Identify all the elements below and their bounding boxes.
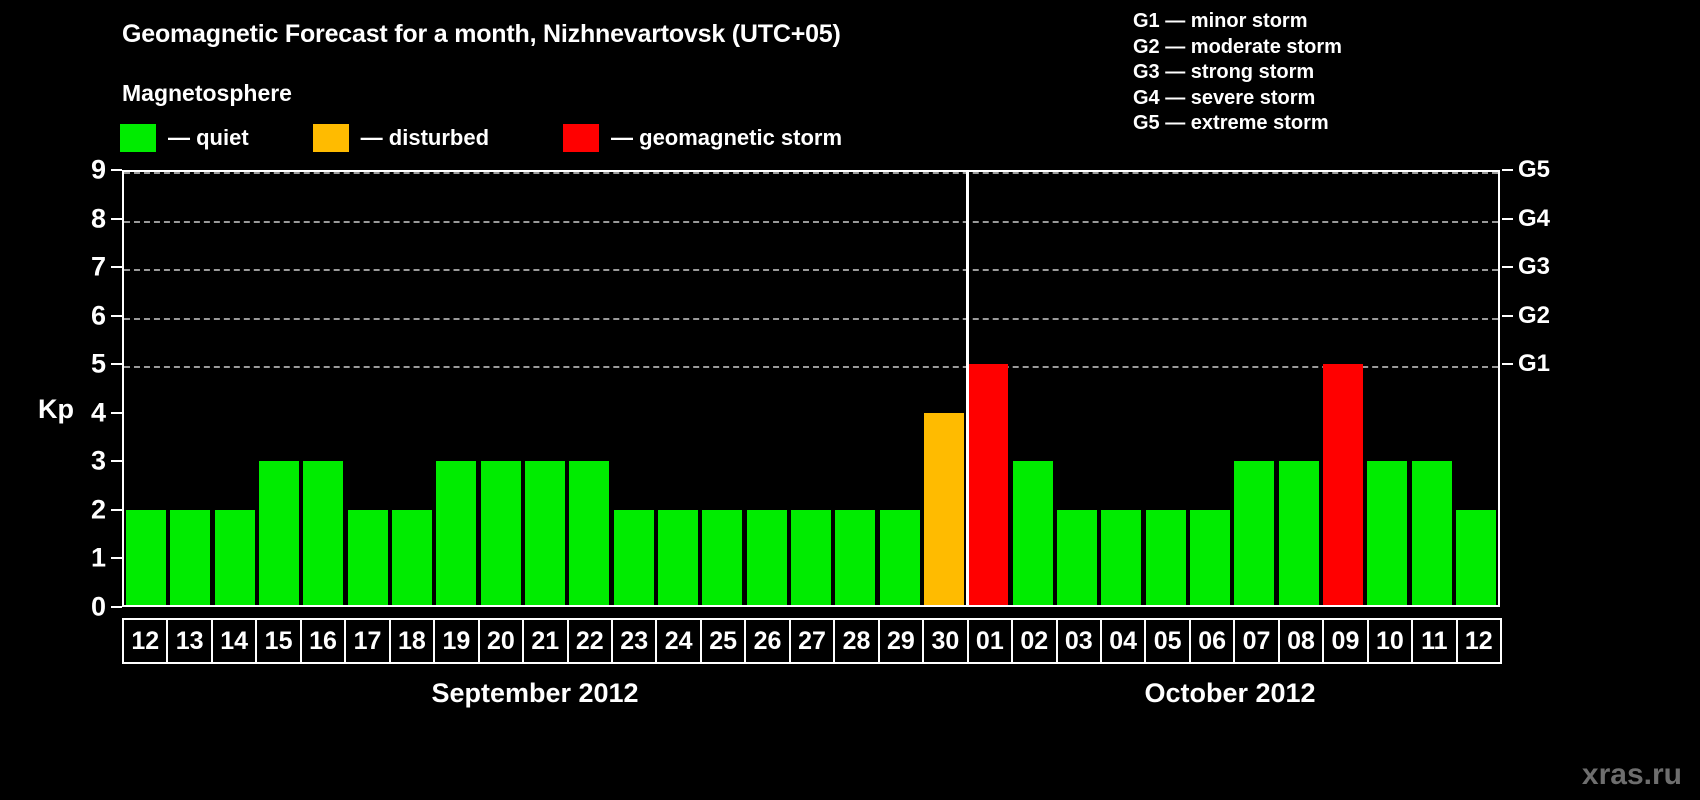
y-tick-7: [111, 266, 122, 268]
legend: — quiet— disturbed— geomagnetic storm: [120, 124, 842, 152]
bar-cell: [213, 172, 257, 607]
bar-cell: [789, 172, 833, 607]
bar-26: [747, 510, 787, 607]
bar-16: [303, 461, 343, 607]
bar-22: [569, 461, 609, 607]
date-label-14: 14: [211, 618, 257, 664]
g-scale-line-4: G4 — severe storm: [1133, 86, 1342, 112]
date-label-26: 26: [744, 618, 790, 664]
g-tick-label-G1: G1: [1518, 350, 1550, 378]
bar-24: [658, 510, 698, 607]
bar-10: [1367, 461, 1407, 607]
y-tick-label-7: 7: [76, 252, 106, 283]
bar-28: [835, 510, 875, 607]
bar-cell: [1232, 172, 1276, 607]
bar-cell: [1188, 172, 1232, 607]
bar-cell: [1321, 172, 1365, 607]
bar-cell: [745, 172, 789, 607]
bar-cell: [523, 172, 567, 607]
bar-15: [259, 461, 299, 607]
bar-08: [1279, 461, 1319, 607]
quiet-swatch: [120, 124, 156, 152]
bar-03: [1057, 510, 1097, 607]
y-tick-1: [111, 557, 122, 559]
bar-19: [436, 461, 476, 607]
month-separator: [966, 172, 969, 607]
date-label-03: 03: [1056, 618, 1102, 664]
g-tick-G5: [1502, 169, 1513, 171]
bar-01: [968, 364, 1008, 607]
month-label-october: October 2012: [1030, 678, 1430, 709]
storm-swatch: [563, 124, 599, 152]
g-scale-legend: G1 — minor stormG2 — moderate stormG3 — …: [1133, 9, 1342, 137]
bar-23: [614, 510, 654, 607]
bar-cell: [612, 172, 656, 607]
bar-cell: [168, 172, 212, 607]
date-label-27: 27: [789, 618, 835, 664]
date-label-08: 08: [1278, 618, 1324, 664]
date-label-13: 13: [166, 618, 212, 664]
y-axis-title: Kp: [38, 394, 74, 425]
date-label-04: 04: [1100, 618, 1146, 664]
bar-05: [1146, 510, 1186, 607]
bar-27: [791, 510, 831, 607]
y-tick-5: [111, 363, 122, 365]
bar-20: [481, 461, 521, 607]
date-label-05: 05: [1144, 618, 1190, 664]
date-label-20: 20: [478, 618, 524, 664]
date-label-16: 16: [300, 618, 346, 664]
y-tick-8: [111, 218, 122, 220]
disturbed-swatch: [313, 124, 349, 152]
bar-cell: [1011, 172, 1055, 607]
bar-02: [1013, 461, 1053, 607]
y-tick-label-4: 4: [76, 397, 106, 428]
bar-17: [348, 510, 388, 607]
bar-25: [702, 510, 742, 607]
bar-18: [392, 510, 432, 607]
bar-cell: [257, 172, 301, 607]
legend-label-1: — disturbed: [361, 125, 489, 151]
y-tick-3: [111, 460, 122, 462]
y-tick-label-1: 1: [76, 543, 106, 574]
y-tick-6: [111, 315, 122, 317]
bar-cell: [922, 172, 966, 607]
date-label-10: 10: [1367, 618, 1413, 664]
chart-plot-area: [122, 170, 1500, 607]
bar-30: [924, 413, 964, 607]
g-tick-label-G4: G4: [1518, 205, 1550, 233]
date-label-21: 21: [522, 618, 568, 664]
month-label-september: September 2012: [320, 678, 750, 709]
bar-11: [1412, 461, 1452, 607]
bar-series: [124, 172, 1498, 607]
date-axis: 1213141516171819202122232425262728293001…: [122, 618, 1500, 664]
g-scale-line-1: G1 — minor storm: [1133, 9, 1342, 35]
bar-cell: [656, 172, 700, 607]
date-label-24: 24: [655, 618, 701, 664]
g-tick-G4: [1502, 218, 1513, 220]
x-axis-line: [124, 605, 1498, 607]
date-label-30: 30: [922, 618, 968, 664]
bar-cell: [346, 172, 390, 607]
y-tick-label-3: 3: [76, 446, 106, 477]
bar-cell: [966, 172, 1010, 607]
date-label-15: 15: [255, 618, 301, 664]
page-title: Geomagnetic Forecast for a month, Nizhne…: [122, 20, 841, 49]
bar-04: [1101, 510, 1141, 607]
y-tick-label-6: 6: [76, 300, 106, 331]
bar-cell: [124, 172, 168, 607]
bar-cell: [479, 172, 523, 607]
bar-cell: [700, 172, 744, 607]
g-scale-line-2: G2 — moderate storm: [1133, 35, 1342, 61]
bar-cell: [1099, 172, 1143, 607]
bar-cell: [434, 172, 478, 607]
bar-cell: [1365, 172, 1409, 607]
bar-29: [880, 510, 920, 607]
legend-label-2: — geomagnetic storm: [611, 125, 842, 151]
date-label-02: 02: [1011, 618, 1057, 664]
bar-13: [170, 510, 210, 607]
legend-label-0: — quiet: [168, 125, 249, 151]
g-tick-label-G3: G3: [1518, 253, 1550, 281]
bar-12: [126, 510, 166, 607]
bar-cell: [1144, 172, 1188, 607]
g-scale-line-5: G5 — extreme storm: [1133, 111, 1342, 137]
y-tick-4: [111, 412, 122, 414]
bar-cell: [878, 172, 922, 607]
legend-item-1: — disturbed: [313, 124, 489, 152]
bar-cell: [567, 172, 611, 607]
bar-09: [1323, 364, 1363, 607]
date-label-12: 12: [122, 618, 168, 664]
g-tick-label-G5: G5: [1518, 156, 1550, 184]
y-tick-0: [111, 606, 122, 608]
date-label-29: 29: [878, 618, 924, 664]
y-tick-label-5: 5: [76, 349, 106, 380]
date-label-01: 01: [967, 618, 1013, 664]
bar-12: [1456, 510, 1496, 607]
date-label-07: 07: [1233, 618, 1279, 664]
bar-cell: [1277, 172, 1321, 607]
date-label-06: 06: [1189, 618, 1235, 664]
date-label-09: 09: [1322, 618, 1368, 664]
g-tick-G2: [1502, 315, 1513, 317]
bar-cell: [833, 172, 877, 607]
bar-cell: [1454, 172, 1498, 607]
date-label-18: 18: [389, 618, 435, 664]
bar-06: [1190, 510, 1230, 607]
date-label-12: 12: [1456, 618, 1502, 664]
y-tick-2: [111, 509, 122, 511]
date-label-25: 25: [700, 618, 746, 664]
g-tick-label-G2: G2: [1518, 302, 1550, 330]
magnetosphere-label: Magnetosphere: [122, 80, 292, 107]
g-scale-line-3: G3 — strong storm: [1133, 60, 1342, 86]
bar-cell: [301, 172, 345, 607]
legend-item-0: — quiet: [120, 124, 249, 152]
date-label-17: 17: [344, 618, 390, 664]
y-tick-label-2: 2: [76, 494, 106, 525]
watermark: xras.ru: [1582, 758, 1682, 792]
bar-07: [1234, 461, 1274, 607]
date-label-28: 28: [833, 618, 879, 664]
bar-14: [215, 510, 255, 607]
bar-cell: [1055, 172, 1099, 607]
date-label-19: 19: [433, 618, 479, 664]
bar-cell: [390, 172, 434, 607]
date-label-22: 22: [567, 618, 613, 664]
g-tick-G1: [1502, 363, 1513, 365]
y-tick-9: [111, 169, 122, 171]
y-tick-label-8: 8: [76, 203, 106, 234]
y-tick-label-9: 9: [76, 155, 106, 186]
y-tick-label-0: 0: [76, 592, 106, 623]
bar-21: [525, 461, 565, 607]
date-label-11: 11: [1411, 618, 1457, 664]
legend-item-2: — geomagnetic storm: [563, 124, 842, 152]
bar-cell: [1410, 172, 1454, 607]
date-label-23: 23: [611, 618, 657, 664]
g-tick-G3: [1502, 266, 1513, 268]
